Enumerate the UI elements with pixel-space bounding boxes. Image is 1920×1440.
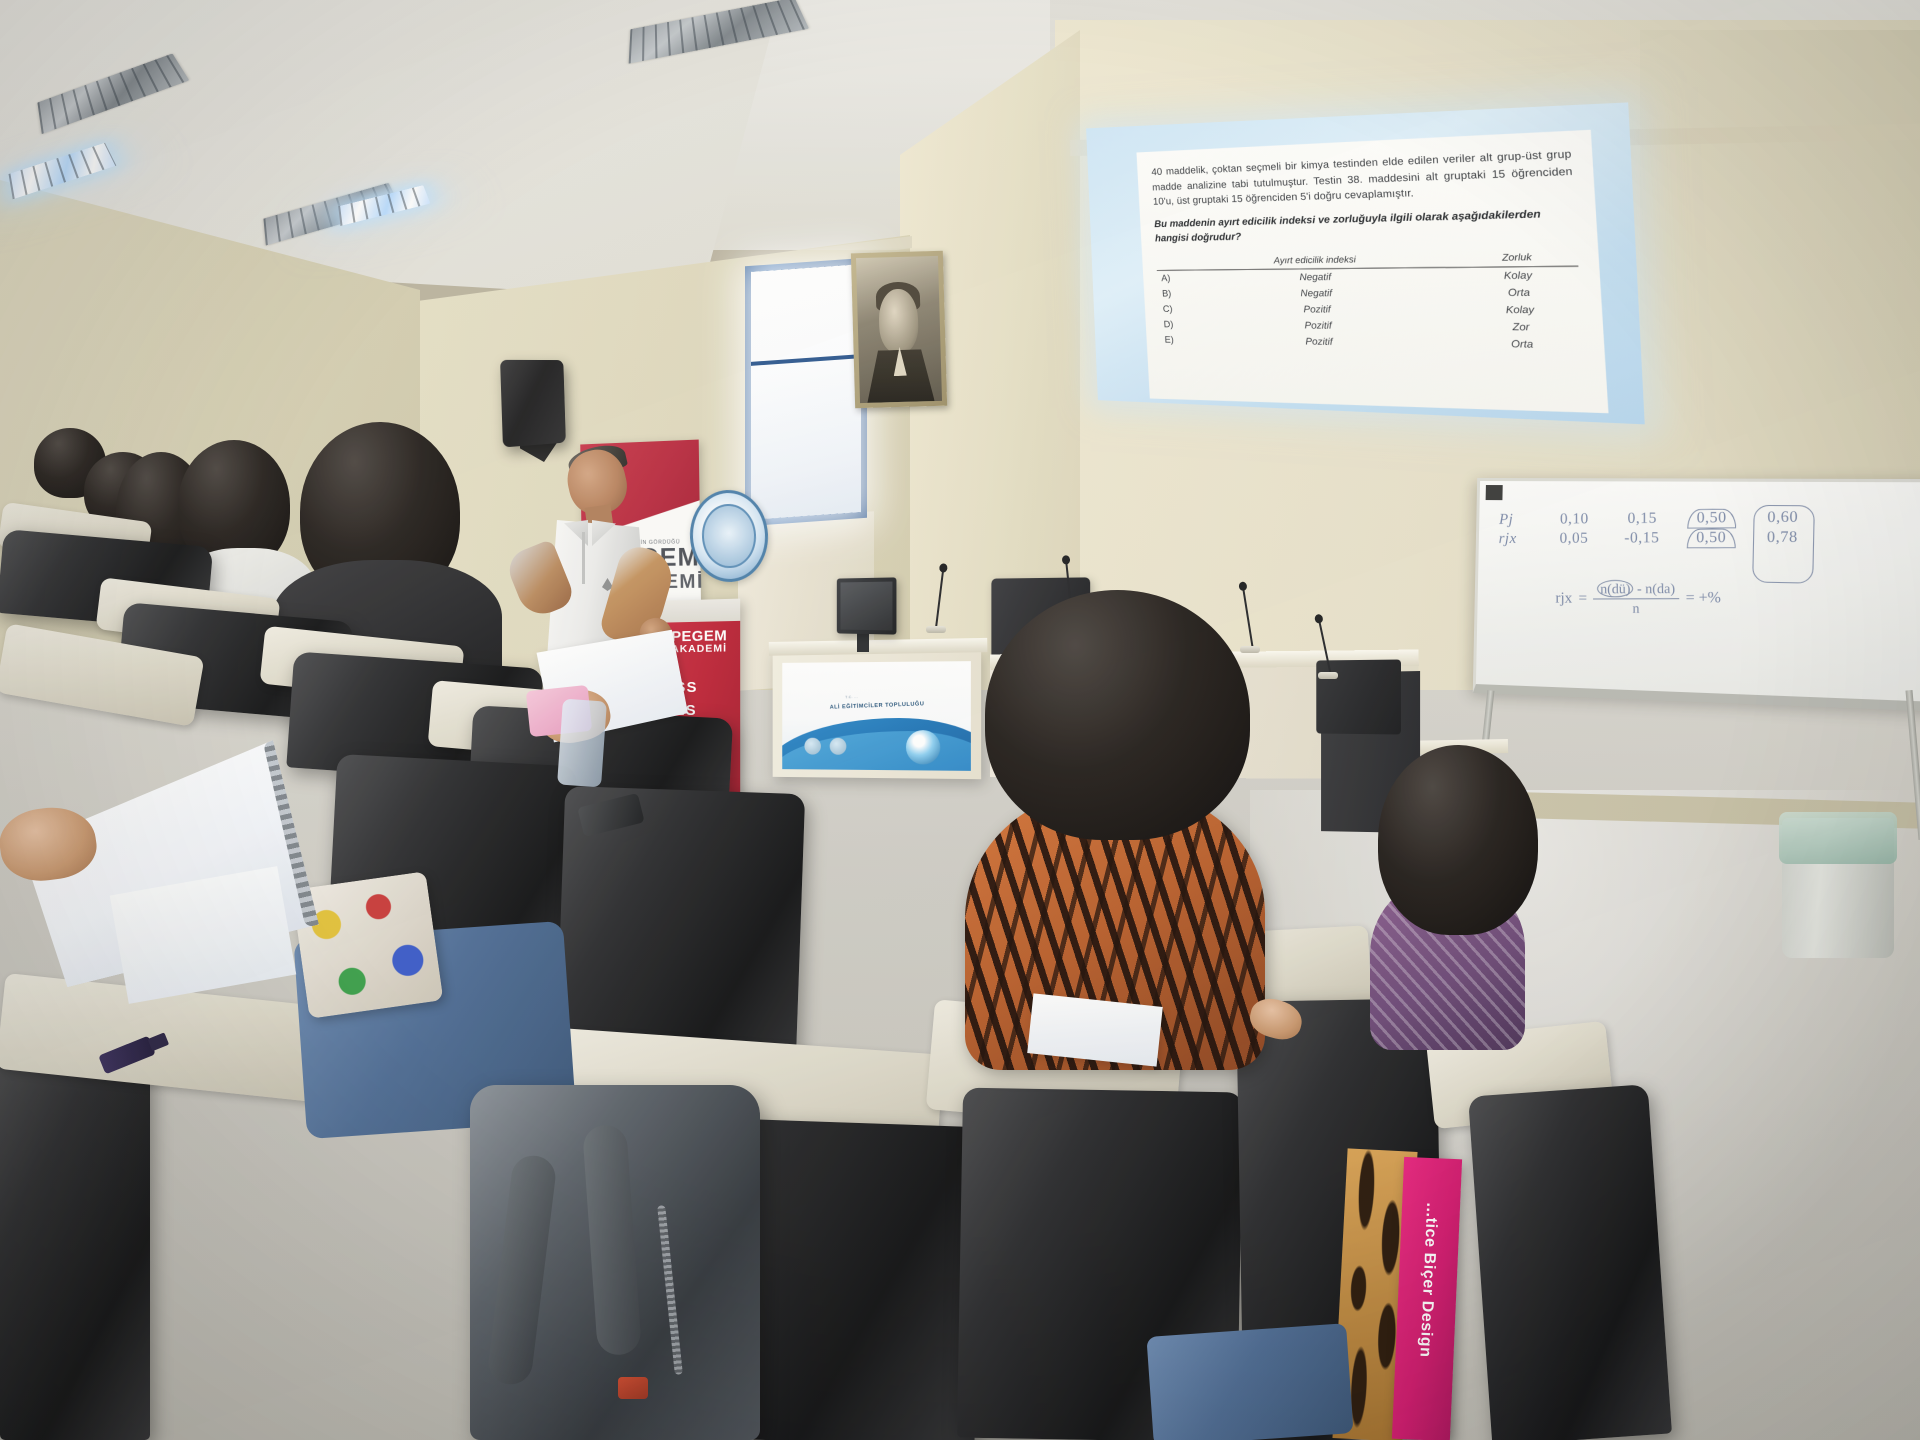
cell-discrimination: Pozitif: [1186, 332, 1463, 352]
whiteboard-row-label: rjx: [1499, 531, 1531, 548]
cell-discrimination: Pozitif: [1185, 301, 1462, 318]
window: [745, 258, 867, 527]
whiteboard-value: 0,10: [1551, 511, 1598, 529]
mic-base-4: [1318, 672, 1338, 679]
student-head-center: [985, 590, 1250, 840]
cell-difficulty: Orta: [1462, 335, 1583, 354]
student-trousers-right: [1146, 1323, 1353, 1440]
slide-paragraph: 40 maddelik, çoktan seçmeli bir kimya te…: [1151, 147, 1574, 210]
monitor-stand: [857, 632, 869, 652]
whiteboard-value: 0,05: [1551, 530, 1598, 548]
window-frame: [745, 258, 867, 527]
th-blank: [1156, 255, 1183, 270]
option-letter: A): [1157, 270, 1184, 286]
banner-globe-icon: [906, 730, 940, 764]
pink-bag: ...tice Biçer Design: [1392, 1157, 1462, 1440]
mic-base-1: [926, 626, 946, 633]
formula-numerator-1: n(dü): [1597, 580, 1633, 598]
option-letter: D): [1159, 316, 1186, 332]
whiteboard-clip-left: [1486, 485, 1503, 500]
wall-speaker: [500, 360, 566, 448]
table-row: B)NegatifOrta: [1158, 284, 1581, 302]
cell-difficulty: Kolay: [1460, 301, 1581, 318]
whiteboard: Pj0,100,150,500,60rjx0,05-0,150,500,78 r…: [1473, 478, 1920, 712]
whiteboard-highlight-box: [1752, 505, 1815, 584]
option-letter: E): [1160, 332, 1187, 348]
whiteboard-value: 0,50: [1687, 528, 1736, 548]
formula-result: = +%: [1686, 590, 1721, 608]
lectern-banner: T.C. ... ALİ EĞİTİMCİLER TOPLULUĞU: [782, 661, 971, 771]
whiteboard-value: -0,15: [1618, 530, 1666, 548]
cell-difficulty: Kolay: [1458, 266, 1579, 285]
backpack-zipper: [657, 1205, 683, 1375]
table-row: A)NegatifKolay: [1157, 266, 1580, 286]
formula-denominator: n: [1632, 599, 1639, 616]
waste-bin: [1782, 818, 1894, 958]
cell-difficulty: Orta: [1459, 284, 1580, 301]
seat-back-fg-6: [1468, 1084, 1672, 1440]
formula-equals: =: [1578, 590, 1587, 607]
projection-screen: 40 maddelik, çoktan seçmeli bir kimya te…: [1086, 102, 1645, 424]
slide-options-table: Ayırt edicilik indeksi Zorluk A)NegatifK…: [1156, 249, 1584, 354]
whiteboard-value: 0,50: [1687, 509, 1736, 529]
bin-liner: [1779, 812, 1897, 864]
formula-lhs: rjx: [1555, 590, 1572, 607]
pencil-case: [292, 871, 444, 1019]
pink-bag-text: ...tice Biçer Design: [1415, 1202, 1440, 1358]
cell-discrimination: Negatif: [1183, 267, 1459, 286]
whiteboard-row-label: Pj: [1499, 512, 1531, 529]
th-difficulty: Zorluk: [1457, 249, 1578, 267]
student-head-right: [1378, 745, 1538, 935]
backpack-logo-badge: [618, 1377, 648, 1399]
lectern-banner-title: ALİ EĞİTİMCİLER TOPLULUĞU: [830, 701, 925, 710]
formula-numerator-2: - n(da): [1637, 581, 1675, 597]
option-letter: C): [1158, 301, 1185, 316]
whiteboard-data-row: rjx0,05-0,150,500,78: [1499, 527, 1920, 549]
instructor-placket: [582, 532, 585, 584]
presentation-slide: 40 maddelik, çoktan seçmeli bir kimya te…: [1136, 130, 1608, 413]
lectern-monitor: [837, 577, 897, 634]
whiteboard-formula: rjx = n(dü) - n(da) n = +%: [1555, 579, 1920, 617]
banner-pip-1: [804, 738, 821, 755]
backpack: [470, 1085, 760, 1440]
option-letter: B): [1158, 286, 1185, 301]
mic-base-3: [1240, 646, 1260, 653]
whiteboard-writing: Pj0,100,150,500,60rjx0,05-0,150,500,78 r…: [1496, 507, 1920, 680]
classroom-photo: 40 maddelik, çoktan seçmeli bir kimya te…: [0, 0, 1920, 1440]
slide-question: Bu maddenin ayırt edicilik indeksi ve zo…: [1154, 206, 1577, 246]
cell-difficulty: Zor: [1461, 318, 1582, 336]
window-glass: [751, 264, 861, 520]
water-bottle: [557, 699, 607, 788]
lectern-banner-subtitle: T.C. ...: [845, 695, 858, 699]
backpack-strap-right: [582, 1124, 642, 1357]
backpack-strap-left: [486, 1153, 558, 1387]
cell-discrimination: Negatif: [1184, 284, 1461, 301]
seat-back-foreground-left: [0, 1040, 150, 1440]
whiteboard-value: 0,15: [1618, 510, 1666, 528]
whiteboard-data-row: Pj0,100,150,500,60: [1499, 507, 1920, 530]
table-row: E)PozitifOrta: [1160, 332, 1584, 354]
framed-portrait-ataturk: [851, 251, 947, 409]
